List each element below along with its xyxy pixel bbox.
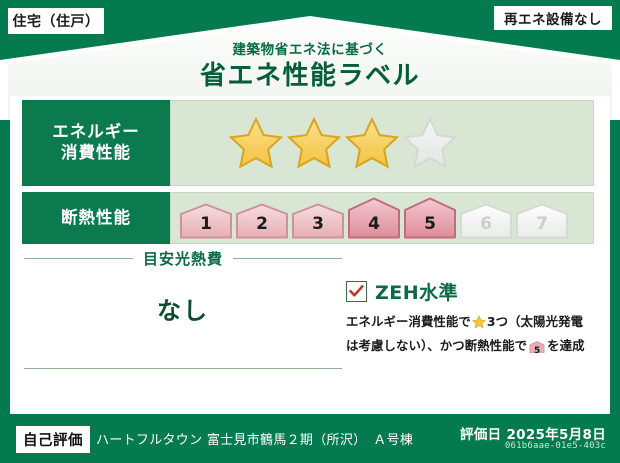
house-icon: [459, 203, 513, 239]
house-level-5: 5: [403, 197, 457, 239]
zeh-desc-star-count: 3つ（太陽光発電: [487, 314, 583, 329]
energy-performance-label: 住宅（住戸） 再エネ設備なし 建築物省エネ法に基づく 省エネ性能ラベル エネルギ…: [0, 0, 620, 463]
insulation-row-value: 1234567: [170, 192, 594, 244]
zeh-description: エネルギー消費性能で3つ（太陽光発電 は考慮しない）、かつ断熱性能で5を達成: [346, 311, 598, 360]
label-footer: 自己評価 ハートフルタウン 富士見市鶴馬２期（所沢） Ａ号棟 評価日 2025年…: [0, 414, 620, 463]
zeh-desc-part2: は考慮しない）、かつ断熱性能で: [346, 338, 527, 353]
inline-star-icon: [472, 317, 486, 332]
self-evaluation-badge: 自己評価: [16, 426, 90, 453]
house-level-1: 1: [179, 203, 233, 239]
house-level-7: 7: [515, 203, 569, 239]
energy-row-label: エネルギー 消費性能: [22, 100, 170, 186]
label-card: エネルギー 消費性能 断熱性能 1234567 目安光熱費 なし: [10, 96, 610, 414]
badge-housing-type: 住宅（住戸）: [8, 8, 104, 34]
zeh-title: ZEH水準: [375, 278, 458, 305]
building-name: ハートフルタウン 富士見市鶴馬２期（所沢） Ａ号棟: [96, 429, 413, 448]
house-level-4: 4: [347, 197, 401, 239]
star-filled-icon: [345, 116, 399, 170]
evaluation-date-label: 評価日: [460, 427, 501, 443]
badge-renewable-energy: 再エネ設備なし: [494, 6, 612, 30]
row-energy-consumption: エネルギー 消費性能: [22, 100, 594, 186]
cost-value: なし: [24, 291, 342, 326]
cost-section-heading: 目安光熱費: [24, 248, 342, 269]
row-insulation: 断熱性能 1234567: [22, 192, 594, 244]
energy-label-line2: 消費性能: [52, 143, 140, 164]
house-rating-scale: 1234567: [171, 197, 569, 239]
star-rating: [171, 116, 457, 170]
house-level-2: 2: [235, 203, 289, 239]
evaluation-id: 061b6aae-01e5-403c: [505, 441, 606, 451]
insulation-row-label: 断熱性能: [22, 192, 170, 244]
zeh-desc-part3: を達成: [547, 338, 584, 353]
label-title: 省エネ性能ラベル: [0, 55, 620, 92]
house-icon: [291, 203, 345, 239]
house-icon: [179, 203, 233, 239]
cost-divider-bottom: [24, 368, 342, 369]
house-level-3: 3: [291, 203, 345, 239]
star-filled-icon: [229, 116, 283, 170]
checkbox-checked-icon: [346, 281, 367, 302]
zeh-header: ZEH水準: [346, 278, 598, 305]
energy-label-line1: エネルギー: [52, 122, 140, 143]
zeh-block: ZEH水準 エネルギー消費性能で3つ（太陽光発電 は考慮しない）、かつ断熱性能で…: [346, 278, 598, 360]
house-icon: [515, 203, 569, 239]
star-filled-icon: [287, 116, 341, 170]
star-empty-icon: [403, 116, 457, 170]
inline-house-icon: 5: [529, 339, 545, 360]
zeh-desc-part1: エネルギー消費性能で: [346, 314, 471, 329]
house-level-6: 6: [459, 203, 513, 239]
cost-section-label: 目安光熱費: [133, 250, 233, 268]
house-icon: [235, 203, 289, 239]
inline-house-number: 5: [529, 344, 545, 359]
house-icon: [403, 197, 457, 239]
energy-row-value: [170, 100, 594, 186]
evaluation-date: 評価日 2025年5月8日: [460, 423, 606, 443]
house-icon: [347, 197, 401, 239]
